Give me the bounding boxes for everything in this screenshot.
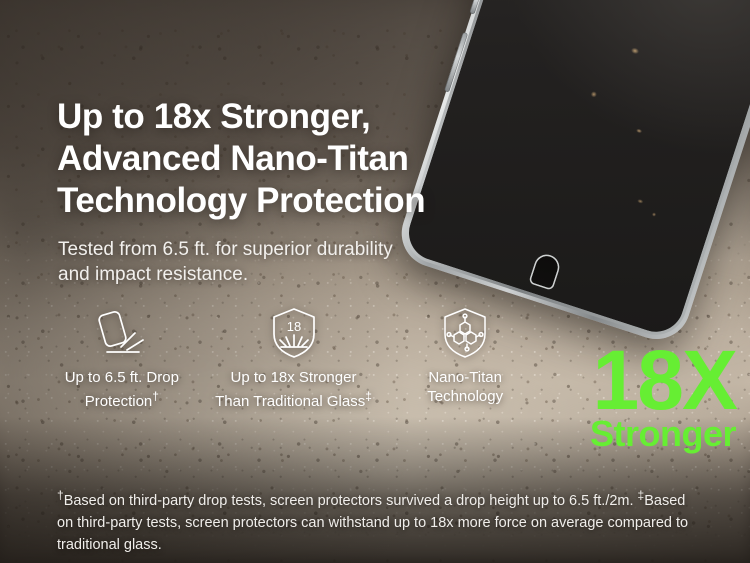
feature-footnote-marker: † <box>152 389 159 403</box>
feature-label-line1: Up to 6.5 ft. Drop <box>65 369 179 386</box>
shield-icon-value: 18 <box>286 319 300 334</box>
feature-list: Up to 6.5 ft. Drop Protection† 18 Up to <box>36 304 551 411</box>
feature-label-line2: Protection <box>85 393 153 410</box>
feature-label-18x-stronger: Up to 18x Stronger Than Traditional Glas… <box>215 368 372 411</box>
feature-item-nano-titan: Nano-Titan Technology <box>379 304 551 411</box>
feature-label-line1: Up to 18x Stronger <box>231 369 357 386</box>
strength-badge-caption: Stronger <box>590 416 736 452</box>
feature-label-nano-titan: Nano-Titan Technology <box>427 368 503 406</box>
feature-footnote-marker: ‡ <box>365 389 372 403</box>
product-feature-banner: Up to 18x Stronger, Advanced Nano-Titan … <box>0 0 750 563</box>
strength-badge: 18X Stronger <box>590 338 736 452</box>
footnote-text-1: Based on third-party drop tests, screen … <box>64 493 638 509</box>
feature-item-drop-protection: Up to 6.5 ft. Drop Protection† <box>36 304 208 411</box>
page-title: Up to 18x Stronger, Advanced Nano-Titan … <box>57 96 487 222</box>
feature-item-18x-stronger: 18 Up to 18x Stronger Than Traditional G… <box>208 304 380 411</box>
feature-label-line2: Technology <box>427 388 503 405</box>
feature-label-line2: Than Traditional Glass <box>215 393 365 410</box>
page-subtitle: Tested from 6.5 ft. for superior durabil… <box>58 237 398 287</box>
feature-label-drop-protection: Up to 6.5 ft. Drop Protection† <box>65 368 179 411</box>
shield-molecule-icon <box>440 304 490 362</box>
strength-badge-value: 18X <box>590 338 736 422</box>
shield-18-impact-icon: 18 <box>269 304 319 362</box>
footnote-marker-1: † <box>57 488 64 502</box>
phone-drop-impact-icon <box>94 304 150 362</box>
footnote-disclaimer: †Based on third-party drop tests, screen… <box>57 484 697 556</box>
feature-label-line1: Nano-Titan <box>428 369 502 386</box>
